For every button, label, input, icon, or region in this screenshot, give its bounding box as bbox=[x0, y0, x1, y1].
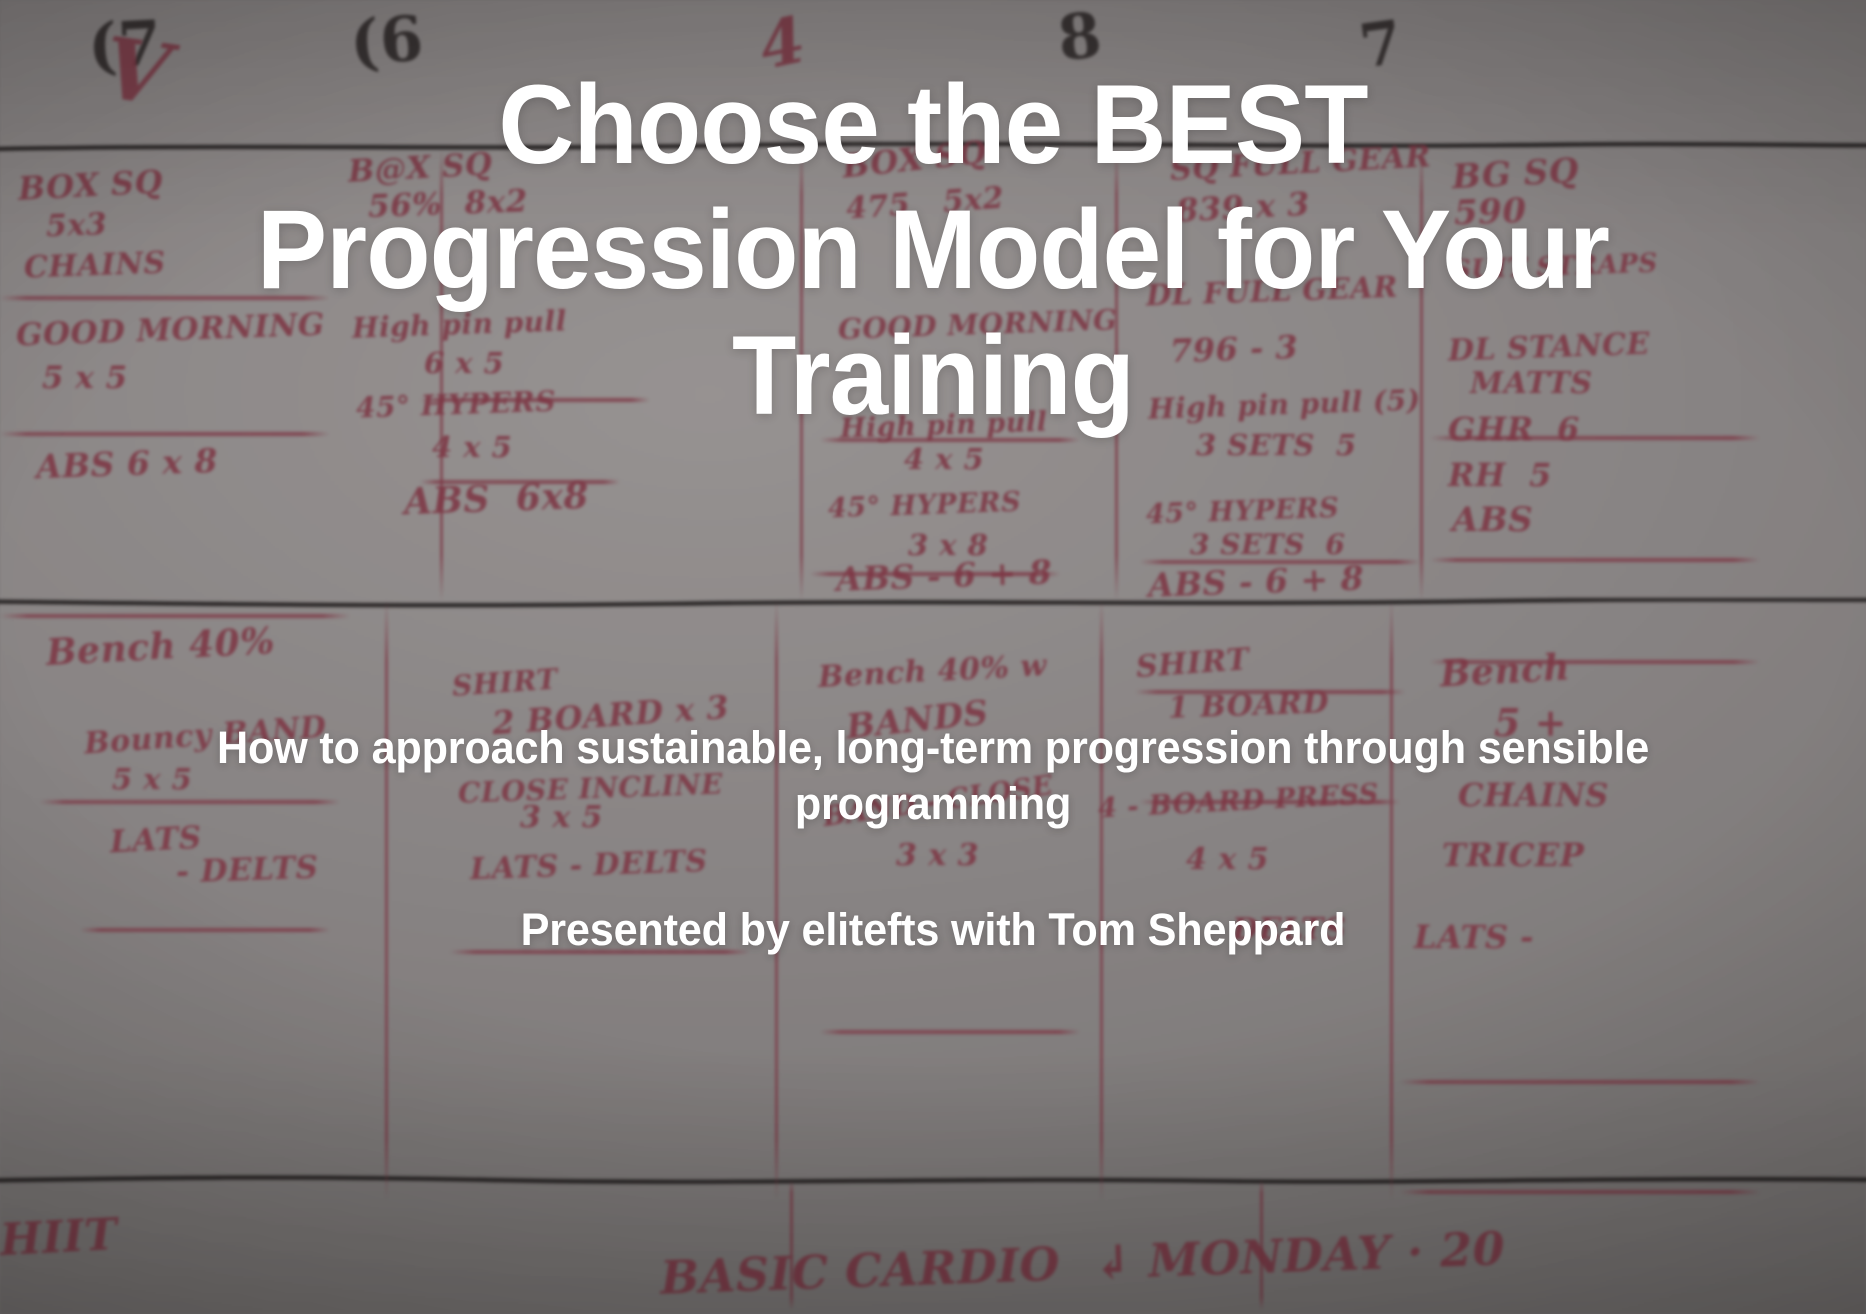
title-line-1: Choose the BEST bbox=[200, 62, 1666, 187]
page-title: Choose the BEST Progression Model for Yo… bbox=[200, 62, 1666, 438]
subtitle-block: How to approach sustainable, long-term p… bbox=[0, 720, 1866, 956]
title-line-3: Training bbox=[200, 313, 1666, 438]
title-line-2: Progression Model for Your bbox=[200, 187, 1666, 312]
subtitle: How to approach sustainable, long-term p… bbox=[203, 720, 1662, 832]
title-slide: (7 V (6 4 8 7 BOX SQ 5x3 CHAINS GOOD MOR… bbox=[0, 0, 1866, 1314]
presenter-credit: Presented by elitefts with Tom Sheppard bbox=[37, 904, 1828, 956]
text-overlay: Choose the BEST Progression Model for Yo… bbox=[0, 0, 1866, 1314]
